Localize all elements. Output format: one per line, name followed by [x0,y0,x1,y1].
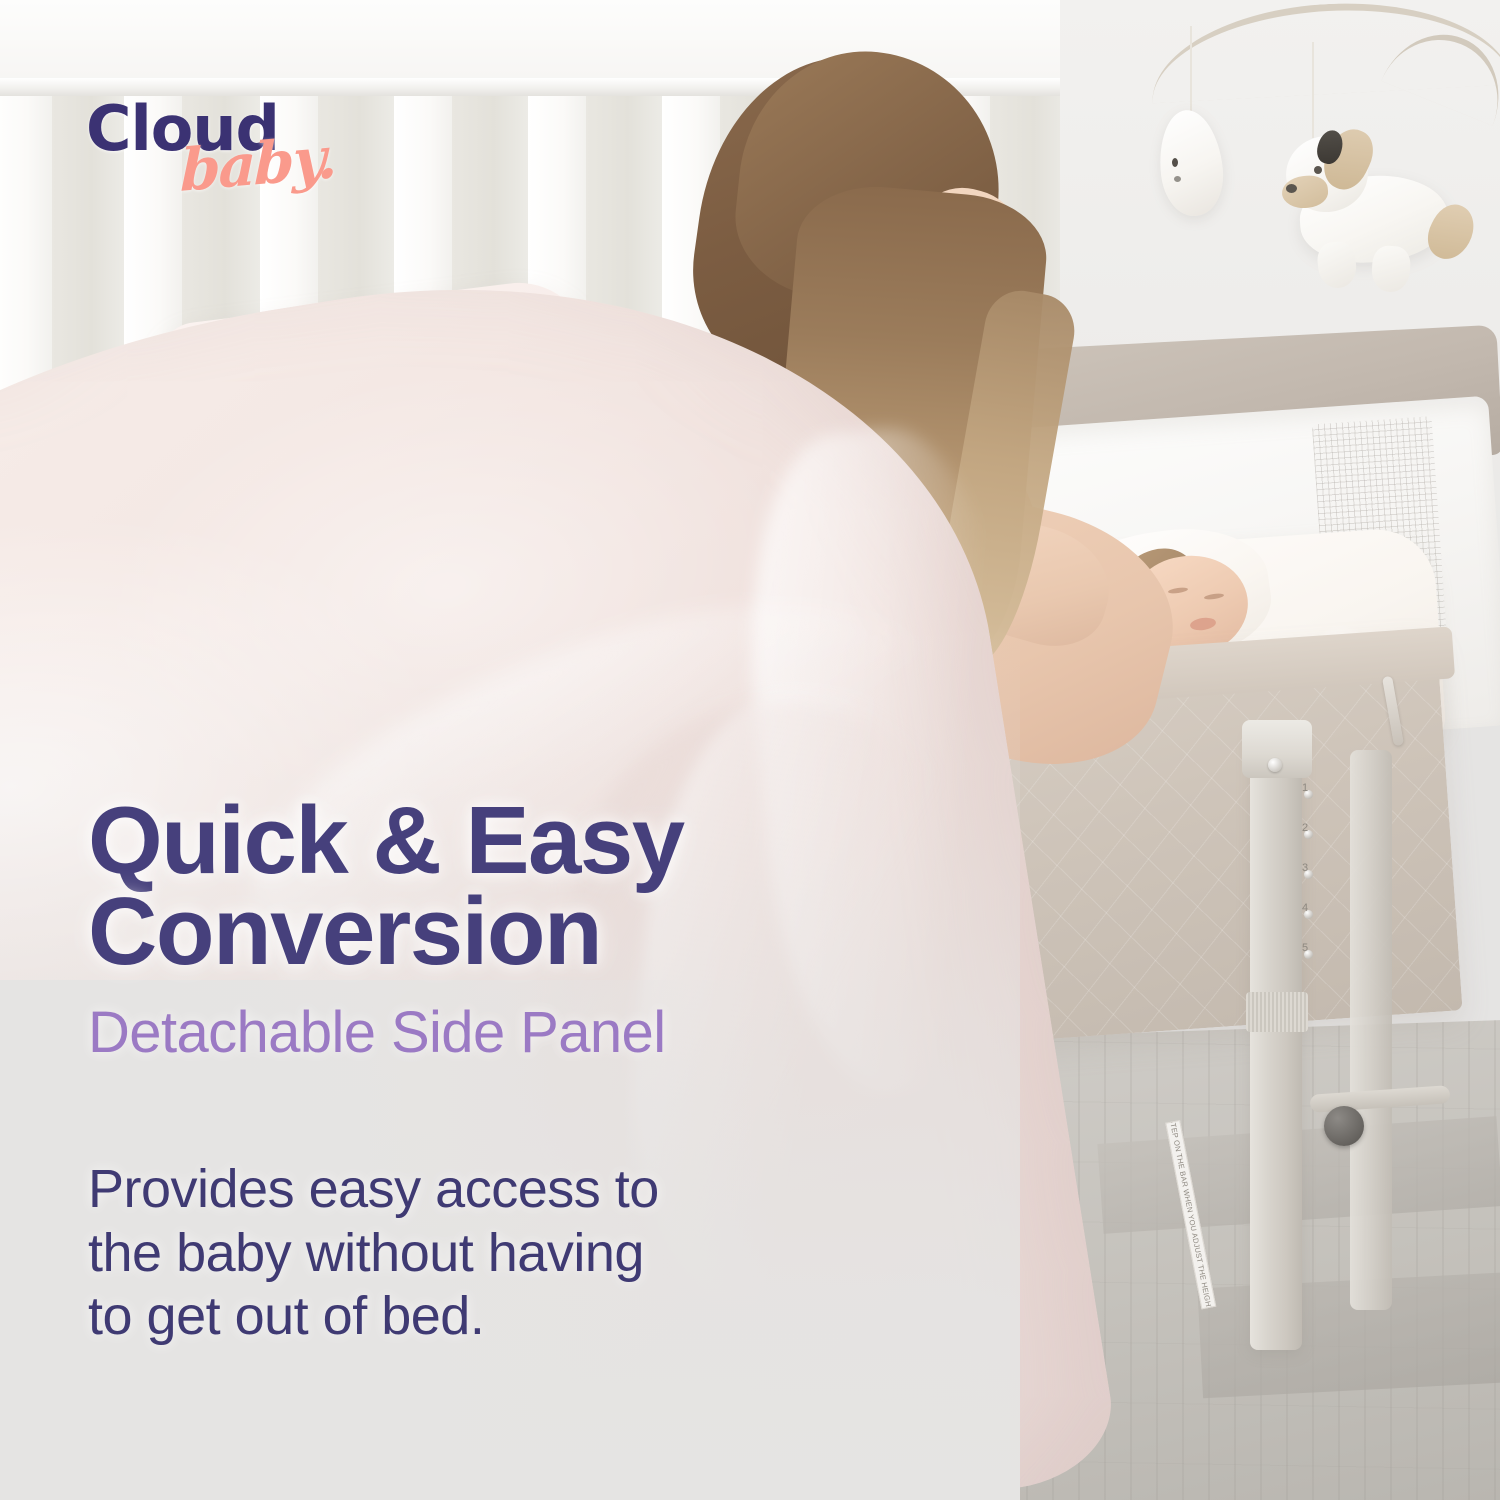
brand-logo: Cloud baby. [86,92,406,202]
height-adjust-warning-label: STEP ON THE BAR WHEN YOU ADJUST THE HEIG… [1165,1120,1216,1309]
plush-dog-nose [1286,184,1297,193]
body-copy: Provides easy access to the baby without… [88,1158,988,1348]
height-adjust-warning-text: STEP ON THE BAR WHEN YOU ADJUST THE HEIG… [1168,1120,1214,1309]
headline-line-1: Quick & Easy [88,795,988,886]
body-line-1: Provides easy access to [88,1158,988,1221]
bassinet-leg-band [1246,992,1308,1032]
body-line-3: to get out of bed. [88,1285,988,1348]
plush-dog-eye [1314,166,1322,174]
subheadline: Detachable Side Panel [88,999,988,1066]
height-adjust-knob-icon [1268,758,1282,772]
bassinet-leg-front [1250,730,1302,1350]
headline: Quick & Easy Conversion [88,795,988,977]
marketing-copy-block: Quick & Easy Conversion Detachable Side … [88,795,988,1348]
plush-toy-nose [1174,176,1181,182]
caster-wheel-icon [1324,1106,1364,1146]
bassinet-leg-rear [1350,750,1392,1310]
headline-line-2: Conversion [88,886,988,977]
plush-toy-eye [1172,158,1178,167]
height-mark-label: 4 [1302,902,1308,914]
mobile-string [1190,26,1192,116]
height-mark-label: 2 [1302,822,1308,834]
logo-word-baby: baby. [180,123,337,205]
height-mark-label: 5 [1302,942,1308,954]
mobile-string [1312,42,1314,138]
height-mark-label: 3 [1302,862,1308,874]
product-marketing-image: 1 2 3 4 5 STEP ON THE BAR WHEN YOU ADJUS… [0,0,1500,1500]
body-line-2: the baby without having [88,1222,988,1285]
height-mark-label: 1 [1302,782,1308,794]
